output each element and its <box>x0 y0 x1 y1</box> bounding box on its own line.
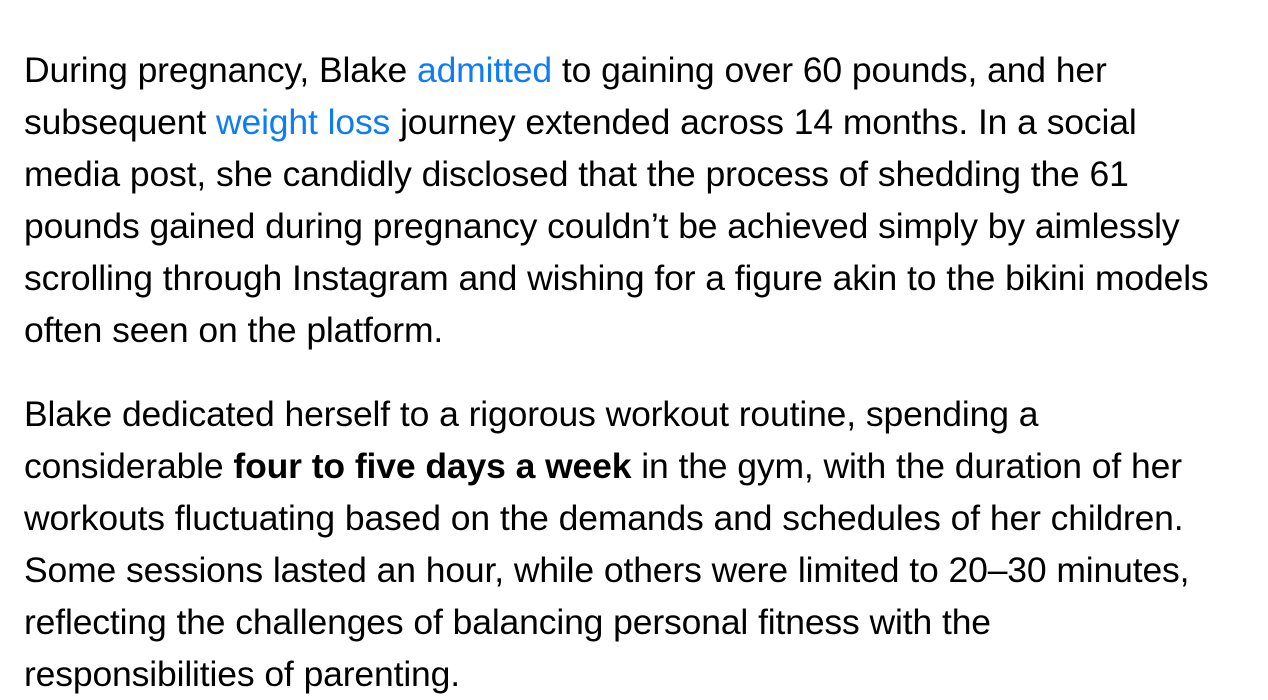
paragraph-2: Blake dedicated herself to a rigorous wo… <box>24 388 1224 700</box>
emphasis-four-to-five-days-a-week: four to five days a week <box>233 446 631 486</box>
paragraph-1: During pregnancy, Blake admitted to gain… <box>24 44 1224 356</box>
link-weight-loss[interactable]: weight loss <box>216 102 390 142</box>
text-run: During pregnancy, Blake <box>24 50 417 90</box>
article-body: During pregnancy, Blake admitted to gain… <box>0 0 1268 700</box>
link-admitted[interactable]: admitted <box>417 50 552 90</box>
